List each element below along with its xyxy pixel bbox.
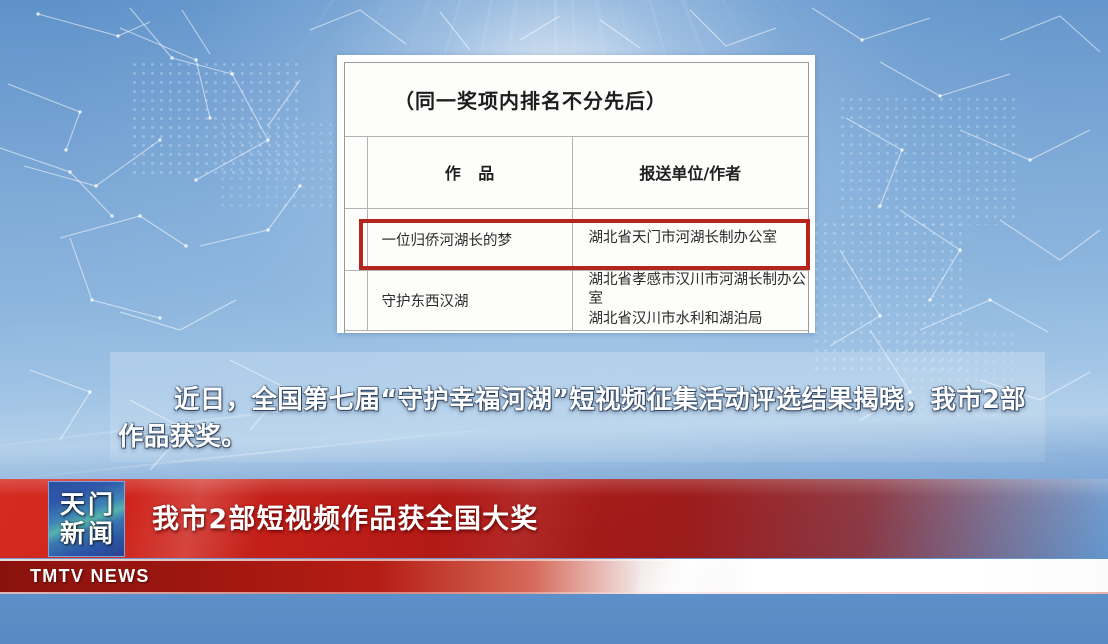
table-row: 守护东西汉湖 湖北省孝感市汉川市河湖长制办公室 湖北省汉川市水利和湖泊局 <box>345 270 808 330</box>
column-header-index <box>345 136 367 208</box>
strip-sheen <box>634 559 736 594</box>
document-table-card: （同一奖项内排名不分先后） 作 品 报送单位/作者 一位归侨河湖长的梦 湖北省天… <box>337 55 815 333</box>
strip-top-highlight <box>0 559 1108 561</box>
row-index <box>345 270 367 330</box>
subtitle-text: 近日，全国第七届“守护幸福河湖”短视频征集活动评选结果揭晓，我市2部作品获奖。 <box>118 382 1038 455</box>
network-id-text: TMTV NEWS <box>30 566 150 587</box>
channel-logo-line-1: 天门 <box>57 490 116 520</box>
channel-logo-line-2: 新闻 <box>57 519 116 549</box>
table-caption-row: （同一奖项内排名不分先后） <box>345 63 808 136</box>
headline-text: 我市2部短视频作品获全国大奖 <box>152 497 539 536</box>
network-id-strip: TMTV NEWS <box>0 559 1108 594</box>
column-header-org: 报送单位/作者 <box>572 136 808 208</box>
broadcast-frame: （同一奖项内排名不分先后） 作 品 报送单位/作者 一位归侨河湖长的梦 湖北省天… <box>0 0 1108 644</box>
row-org: 湖北省天门市河湖长制办公室 <box>572 208 808 270</box>
dot-cluster-right-2 <box>812 220 962 370</box>
table-row: 一位归侨河湖长的梦 湖北省天门市河湖长制办公室 <box>345 208 808 270</box>
table-caption: （同一奖项内排名不分先后） <box>345 63 808 136</box>
row-work-title: 守护东西汉湖 <box>367 270 572 330</box>
bottom-grid-area <box>0 594 1108 644</box>
dot-cluster-left-2 <box>218 120 348 210</box>
dot-cluster-left <box>130 60 300 175</box>
table-header-row: 作 品 报送单位/作者 <box>345 136 808 208</box>
row-work-title: 一位归侨河湖长的梦 <box>367 208 572 270</box>
award-table: （同一奖项内排名不分先后） 作 品 报送单位/作者 一位归侨河湖长的梦 湖北省天… <box>345 63 808 331</box>
dot-cluster-right <box>838 95 1018 225</box>
document-table-frame: （同一奖项内排名不分先后） 作 品 报送单位/作者 一位归侨河湖长的梦 湖北省天… <box>344 62 809 333</box>
column-header-work: 作 品 <box>367 136 572 208</box>
row-index <box>345 208 367 270</box>
row-org: 湖北省孝感市汉川市河湖长制办公室 湖北省汉川市水利和湖泊局 <box>572 270 808 330</box>
channel-logo: 天门 新闻 <box>48 481 125 557</box>
